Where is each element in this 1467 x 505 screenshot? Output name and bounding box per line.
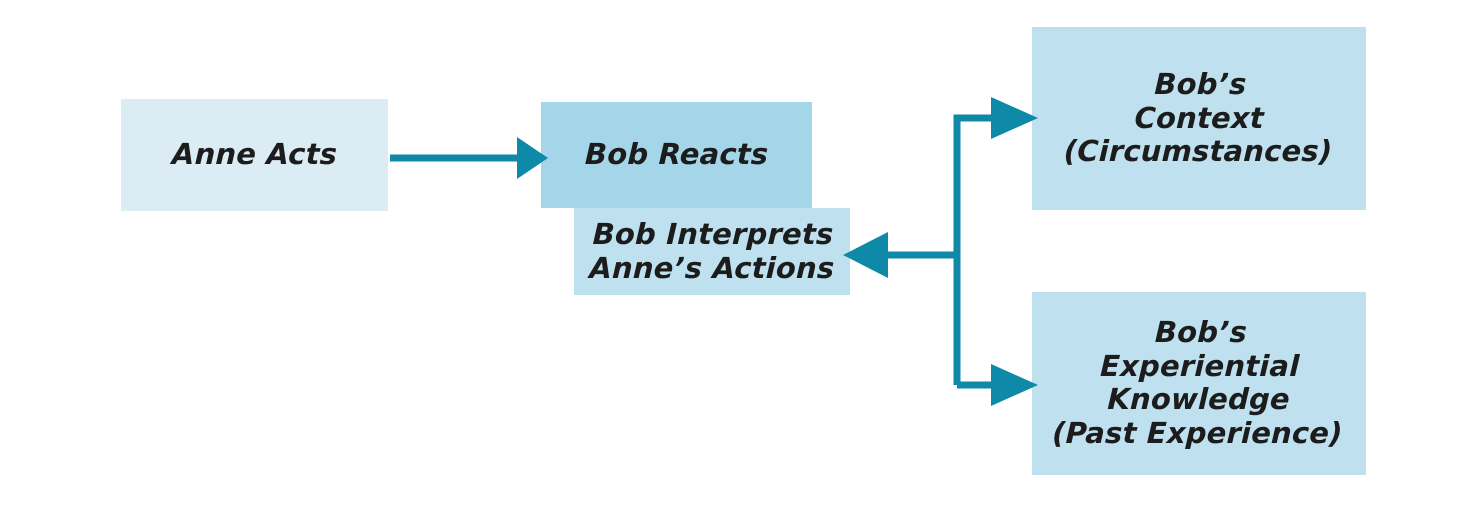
arrowhead-right-icon <box>991 364 1038 406</box>
node-bob-interprets[interactable]: Bob Interprets Anne’s Actions <box>574 208 850 295</box>
node-bob-knowledge-label: Bob’s Experiential Knowledge (Past Exper… <box>1051 316 1346 451</box>
node-bob-reacts[interactable]: Bob Reacts <box>541 102 812 208</box>
node-bob-knowledge[interactable]: Bob’s Experiential Knowledge (Past Exper… <box>1032 292 1366 475</box>
arrow-trunk-to-interprets <box>843 232 960 278</box>
node-bob-interprets-label: Bob Interprets Anne’s Actions <box>588 218 835 285</box>
node-bob-reacts-label: Bob Reacts <box>584 138 769 172</box>
node-bob-context[interactable]: Bob’s Context (Circumstances) <box>1032 27 1366 210</box>
diagram-canvas: Anne Acts Bob Interprets Anne’s Actions … <box>0 0 1467 505</box>
node-anne-acts[interactable]: Anne Acts <box>121 99 388 211</box>
node-bob-context-label: Bob’s Context (Circumstances) <box>1063 68 1335 169</box>
arrowhead-right-icon <box>991 97 1038 139</box>
node-anne-acts-label: Anne Acts <box>171 138 337 172</box>
arrow-anne-to-bob-reacts <box>390 137 548 179</box>
arrow-trunk-to-context <box>957 97 1038 385</box>
arrow-trunk-to-knowledge <box>957 364 1038 406</box>
